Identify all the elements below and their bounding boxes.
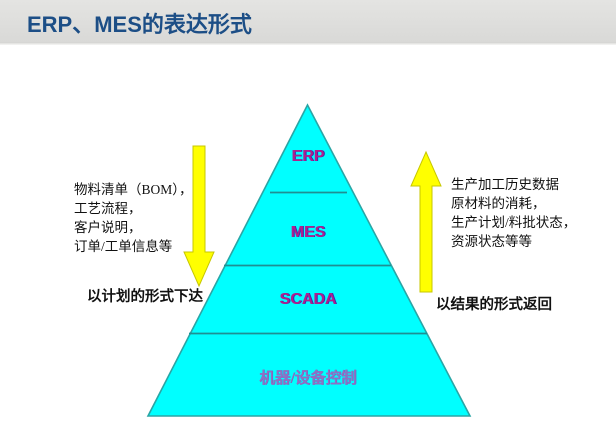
pyramid-tier-label-machine-control: 机器/设备控制 [259,366,356,388]
pyramid-tier-label-scada: SCADA [280,291,337,309]
pyramid-tier-label-erp: ERP [292,148,325,166]
right-flow-caption: 以结果的形式返回 [436,293,552,314]
left-flow-caption: 以计划的形式下达 [87,285,203,306]
right-text-line: 生产加工历史数据 [451,175,576,194]
right-text-line: 生产计划/料批状态， [451,213,576,232]
left-input-description: 物料清单（BOM）， 工艺流程， 客户说明， 订单/工单信息等 [74,180,193,256]
right-text-line: 原材料的消耗， [451,194,576,213]
right-text-line: 资源状态等等 [451,232,576,251]
left-text-line: 工艺流程， [74,199,193,218]
right-output-description: 生产加工历史数据 原材料的消耗， 生产计划/料批状态， 资源状态等等 [451,175,576,251]
pyramid-tier-label-mes: MES [291,224,326,242]
left-text-line: 客户说明， [74,218,193,237]
left-text-line: 物料清单（BOM）， [74,180,193,199]
left-text-line: 订单/工单信息等 [74,237,193,256]
up-arrow-icon [411,152,441,292]
